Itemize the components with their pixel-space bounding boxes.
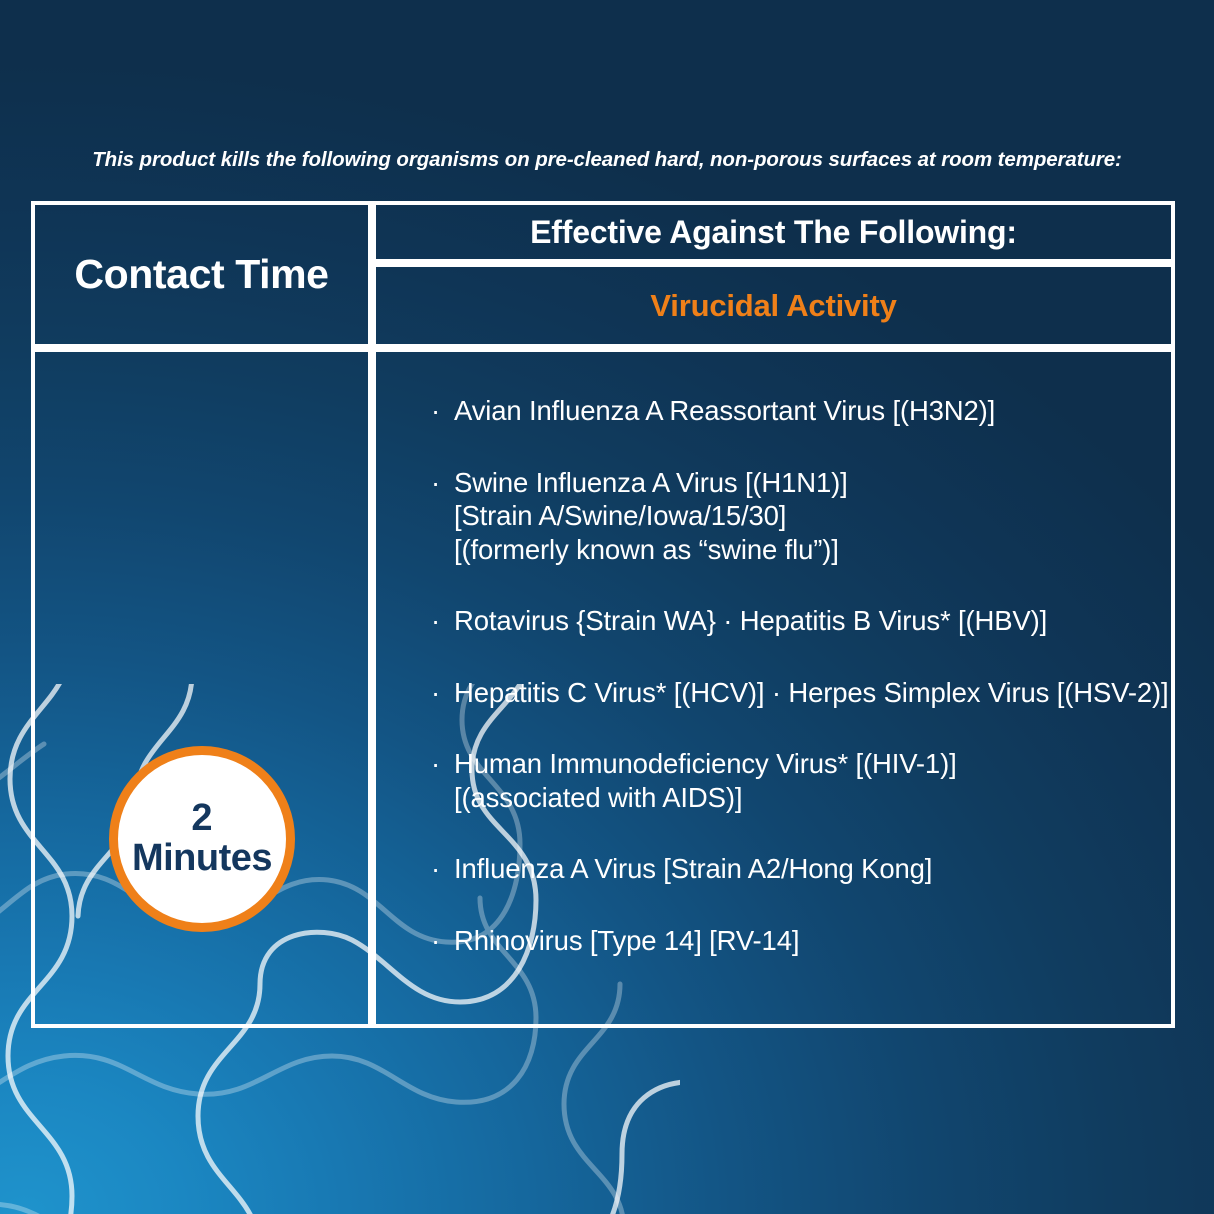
effective-against-header-cell: Effective Against The Following:	[372, 201, 1175, 263]
list-item: · Hepatitis C Virus* [(HCV)] · Herpes Si…	[429, 676, 1161, 710]
contact-time-badge: 2 Minutes	[109, 746, 295, 932]
organism-line: [(associated with AIDS)]	[454, 781, 1161, 815]
bullet-icon: ·	[431, 747, 440, 781]
organism-line: Human Immunodeficiency Virus* [(HIV-1)]	[454, 747, 1161, 781]
contact-time-header-label: Contact Time	[74, 254, 328, 295]
contact-time-value-cell: 2 Minutes	[31, 348, 372, 1028]
list-item: · Avian Influenza A Reassortant Virus [(…	[429, 394, 1161, 428]
organism-line: [(formerly known as “swine flu”)]	[454, 533, 1161, 567]
bullet-icon: ·	[431, 924, 440, 958]
virucidal-activity-header-cell: Virucidal Activity	[372, 263, 1175, 348]
bullet-icon: ·	[431, 676, 440, 710]
product-efficacy-panel: This product kills the following organis…	[0, 0, 1214, 1214]
organism-line: Rhinovirus [Type 14] [RV-14]	[454, 924, 1161, 958]
effective-against-header-label: Effective Against The Following:	[530, 216, 1017, 248]
organism-line: [Strain A/Swine/Iowa/15/30]	[454, 499, 1161, 533]
organism-line: Swine Influenza A Virus [(H1N1)]	[454, 466, 1161, 500]
list-item: · Swine Influenza A Virus [(H1N1)] [Stra…	[429, 466, 1161, 567]
list-item: · Influenza A Virus [Strain A2/Hong Kong…	[429, 852, 1161, 886]
list-item: · Human Immunodeficiency Virus* [(HIV-1)…	[429, 747, 1161, 814]
list-item: · Rotavirus {Strain WA} · Hepatitis B Vi…	[429, 604, 1161, 638]
organism-line: Rotavirus {Strain WA} · Hepatitis B Viru…	[454, 604, 1161, 638]
bullet-icon: ·	[431, 852, 440, 886]
contact-time-header-cell: Contact Time	[31, 201, 372, 348]
organism-line: Avian Influenza A Reassortant Virus [(H3…	[454, 394, 1161, 428]
bullet-icon: ·	[431, 394, 440, 428]
bullet-icon: ·	[431, 604, 440, 638]
intro-statement: This product kills the following organis…	[0, 148, 1214, 172]
organism-list-cell: · Avian Influenza A Reassortant Virus [(…	[372, 348, 1175, 1028]
organism-line: Influenza A Virus [Strain A2/Hong Kong]	[454, 852, 1161, 886]
contact-time-badge-unit: Minutes	[132, 839, 272, 879]
bullet-icon: ·	[431, 466, 440, 500]
organism-list: · Avian Influenza A Reassortant Virus [(…	[429, 394, 1161, 957]
list-item: · Rhinovirus [Type 14] [RV-14]	[429, 924, 1161, 958]
efficacy-table: Contact Time Effective Against The Follo…	[31, 201, 1175, 1028]
organism-line: Hepatitis C Virus* [(HCV)] · Herpes Simp…	[454, 676, 1161, 710]
contact-time-badge-value: 2	[191, 799, 212, 839]
virucidal-activity-header-label: Virucidal Activity	[650, 290, 896, 321]
